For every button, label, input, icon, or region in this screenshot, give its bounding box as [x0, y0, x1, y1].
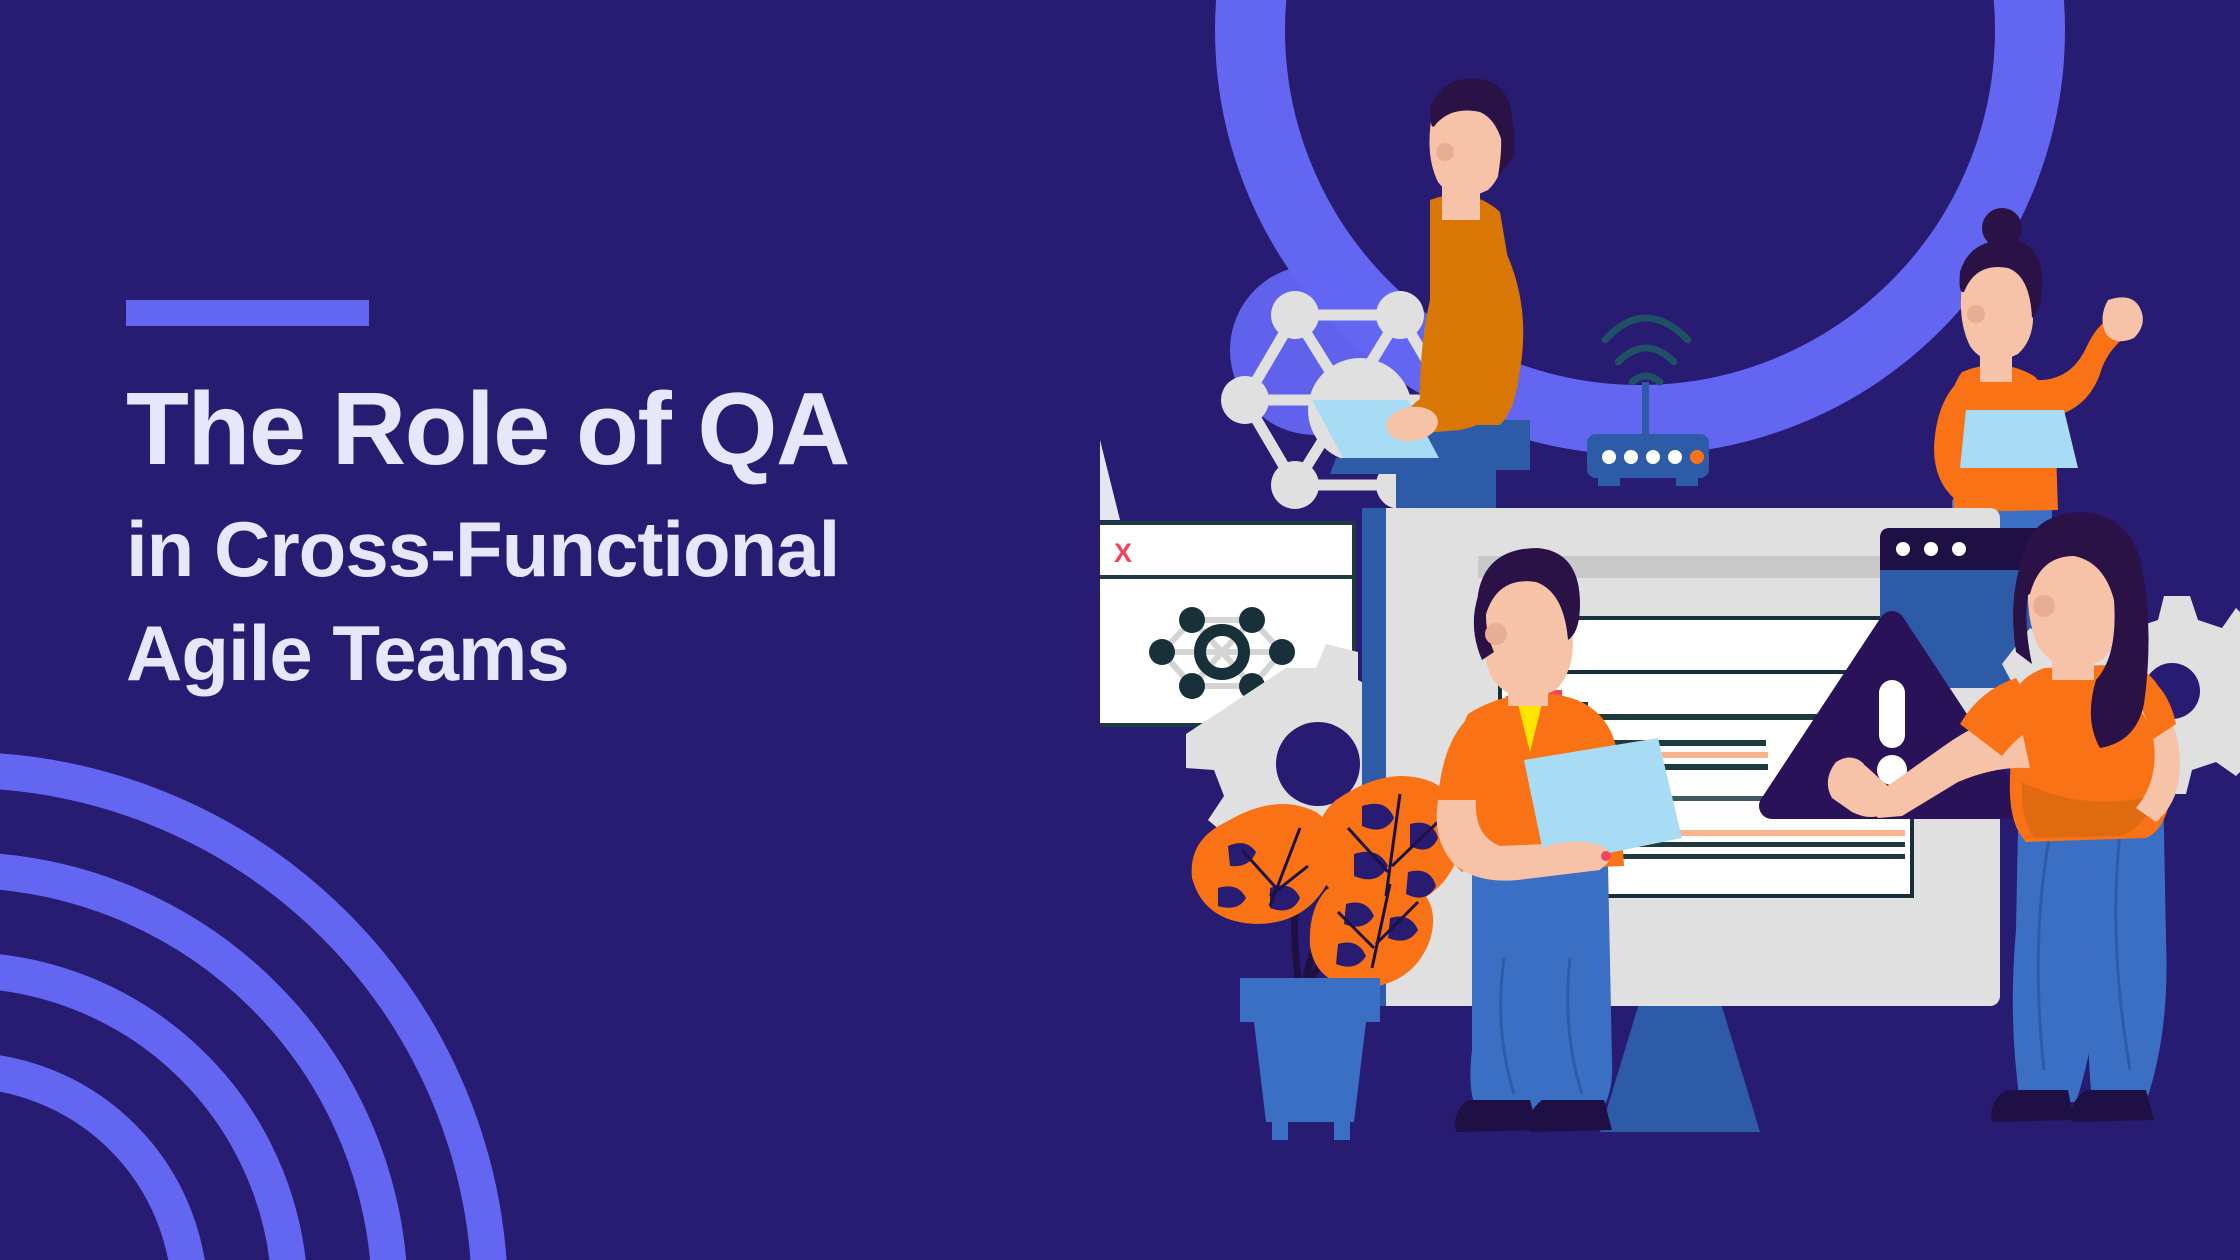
browser-dot-1 — [1896, 542, 1910, 556]
banner-root: The Role of QA in Cross-Functional Agile… — [0, 0, 2240, 1260]
headline-block: The Role of QA in Cross-Functional Agile… — [126, 300, 1126, 698]
browser-dot-3 — [1952, 542, 1966, 556]
router-icon — [1587, 382, 1709, 486]
qa-team-illustration: X — [1100, 0, 2240, 1260]
page-title-line3: Agile Teams — [126, 609, 1126, 699]
page-title-line2: in Cross-Functional — [126, 505, 1126, 595]
browser-dot-2 — [1924, 542, 1938, 556]
page-title-line1: The Role of QA — [126, 376, 1126, 481]
wifi-icon — [1605, 318, 1688, 382]
arcs-bottom-left — [0, 770, 490, 1260]
accent-bar — [126, 300, 369, 326]
